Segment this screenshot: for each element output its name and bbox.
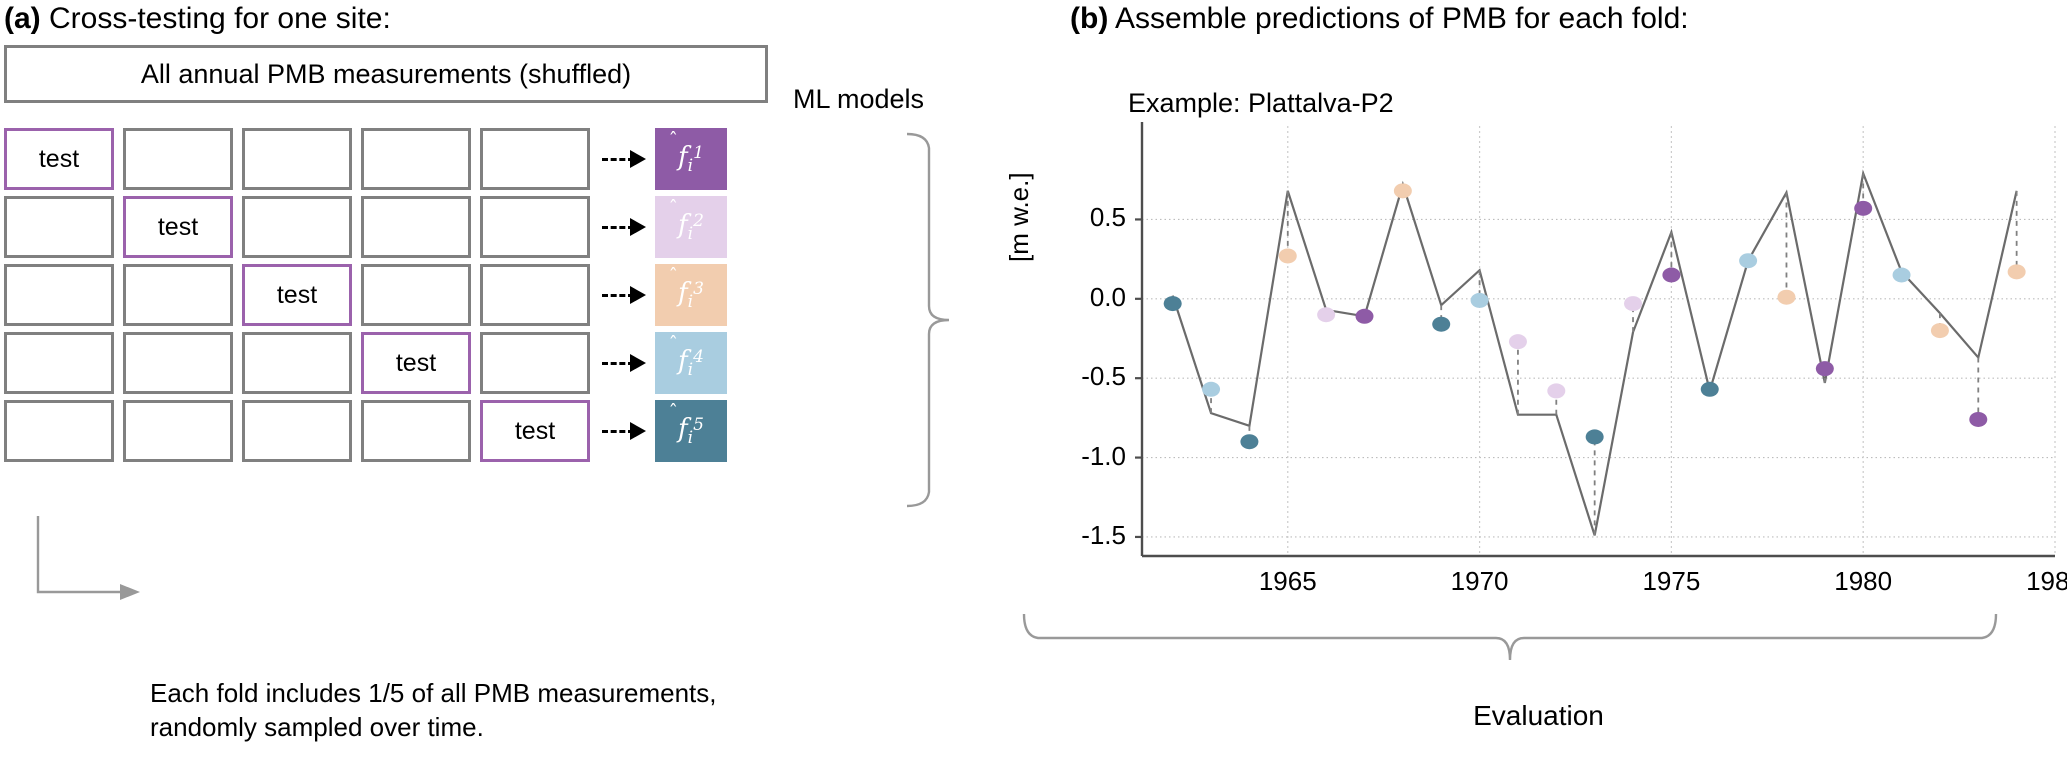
predicted-pmb-point[interactable]	[1317, 307, 1335, 322]
ml-model-label: ̂fi2	[678, 210, 704, 244]
fold-cell-train[interactable]	[361, 400, 471, 462]
predicted-pmb-point[interactable]	[1701, 382, 1719, 397]
fold-cell-train[interactable]	[242, 196, 352, 258]
test-label: test	[515, 417, 555, 446]
predicted-pmb-point[interactable]	[1662, 268, 1680, 283]
predicted-pmb-point[interactable]	[1279, 248, 1297, 263]
predicted-pmb-point[interactable]	[1777, 290, 1795, 305]
ml-models-label: ML models	[793, 84, 924, 115]
fold-to-model-arrow-icon	[602, 430, 644, 432]
fold-cell-train[interactable]	[4, 400, 114, 462]
fold-cell-train[interactable]	[123, 332, 233, 394]
fold-to-model-arrow-icon	[602, 226, 644, 228]
caption-line-2: randomly sampled over time.	[150, 710, 717, 744]
panel-a-cross-testing: (a) Cross-testing for one site: All annu…	[0, 0, 1010, 768]
ml-model-label: ̂fi5	[678, 414, 704, 448]
fold-caption-arrow	[36, 514, 166, 644]
fold-cell-train[interactable]	[242, 400, 352, 462]
ml-model-label: ̂fi1	[678, 142, 704, 176]
panel-b-predictions: (b) Assemble predictions of PMB for each…	[1010, 0, 2067, 768]
fold-cell-train[interactable]	[480, 264, 590, 326]
fold-cell-train[interactable]	[4, 264, 114, 326]
fold-cell-train[interactable]	[361, 128, 471, 190]
predicted-pmb-point[interactable]	[1624, 296, 1642, 311]
all-measurements-box: All annual PMB measurements (shuffled)	[4, 45, 768, 103]
fold-aggregation-brace	[905, 130, 965, 510]
panel-a-title-text: Cross-testing for one site:	[49, 2, 391, 35]
predicted-pmb-point[interactable]	[1931, 323, 1949, 338]
fold-cell-train[interactable]	[480, 332, 590, 394]
fold-cell-train[interactable]	[242, 332, 352, 394]
ml-model-label: ̂fi3	[678, 278, 704, 312]
fold-cell-train[interactable]	[361, 264, 471, 326]
ml-model-box-3[interactable]: ̂fi3	[655, 264, 727, 326]
test-label: test	[277, 281, 317, 310]
ml-model-label: ̂fi4	[678, 346, 704, 380]
predicted-pmb-point[interactable]	[1394, 183, 1412, 198]
predicted-pmb-point[interactable]	[1240, 434, 1258, 449]
predicted-pmb-point[interactable]	[1202, 382, 1220, 397]
predicted-pmb-point[interactable]	[1739, 253, 1757, 268]
fold-to-model-arrow-icon	[602, 294, 644, 296]
fold-cell-test[interactable]: test	[361, 332, 471, 394]
predicted-pmb-point[interactable]	[1471, 293, 1489, 308]
fold-cell-train[interactable]	[123, 264, 233, 326]
test-label: test	[396, 349, 436, 378]
predicted-pmb-point[interactable]	[2008, 264, 2026, 279]
test-label: test	[158, 213, 198, 242]
predicted-pmb-point[interactable]	[1893, 268, 1911, 283]
predicted-pmb-point[interactable]	[1854, 201, 1872, 216]
fold-cell-train[interactable]	[123, 400, 233, 462]
ml-model-box-5[interactable]: ̂fi5	[655, 400, 727, 462]
fold-cell-train[interactable]	[4, 196, 114, 258]
predicted-pmb-point[interactable]	[1164, 296, 1182, 311]
all-measurements-label: All annual PMB measurements (shuffled)	[141, 59, 631, 90]
ml-model-box-2[interactable]: ̂fi2	[655, 196, 727, 258]
evaluation-brace	[1010, 608, 2067, 698]
predicted-pmb-point[interactable]	[1509, 334, 1527, 349]
fold-cell-train[interactable]	[480, 196, 590, 258]
ml-model-box-1[interactable]: ̂fi1	[655, 128, 727, 190]
fold-cell-train[interactable]	[361, 196, 471, 258]
panel-a-tag: (a)	[4, 2, 41, 35]
pmb-timeseries-chart: [m w.e.] 0.50.0-0.5-1.0-1.5 196519701975…	[1010, 0, 2067, 620]
test-label: test	[39, 145, 79, 174]
fold-cell-train[interactable]	[4, 332, 114, 394]
predicted-pmb-point[interactable]	[1586, 429, 1604, 444]
predicted-pmb-point[interactable]	[1547, 383, 1565, 398]
panel-a-title: (a) Cross-testing for one site:	[4, 2, 391, 36]
fold-to-model-arrow-icon	[602, 158, 644, 160]
predicted-pmb-point[interactable]	[1432, 317, 1450, 332]
fold-cell-test[interactable]: test	[4, 128, 114, 190]
predicted-pmb-point[interactable]	[1969, 412, 1987, 427]
caption-line-1: Each fold includes 1/5 of all PMB measur…	[150, 676, 717, 710]
fold-cell-train[interactable]	[242, 128, 352, 190]
panel-a-caption: Each fold includes 1/5 of all PMB measur…	[150, 676, 717, 744]
fold-cell-test[interactable]: test	[480, 400, 590, 462]
fold-cell-test[interactable]: test	[123, 196, 233, 258]
predicted-pmb-point[interactable]	[1355, 309, 1373, 324]
fold-cell-test[interactable]: test	[242, 264, 352, 326]
evaluation-label: Evaluation	[1010, 700, 2067, 732]
plot-canvas	[1010, 0, 2067, 620]
predicted-pmb-point[interactable]	[1816, 361, 1834, 376]
fold-to-model-arrow-icon	[602, 362, 644, 364]
fold-cell-train[interactable]	[480, 128, 590, 190]
fold-cell-train[interactable]	[123, 128, 233, 190]
ml-model-box-4[interactable]: ̂fi4	[655, 332, 727, 394]
